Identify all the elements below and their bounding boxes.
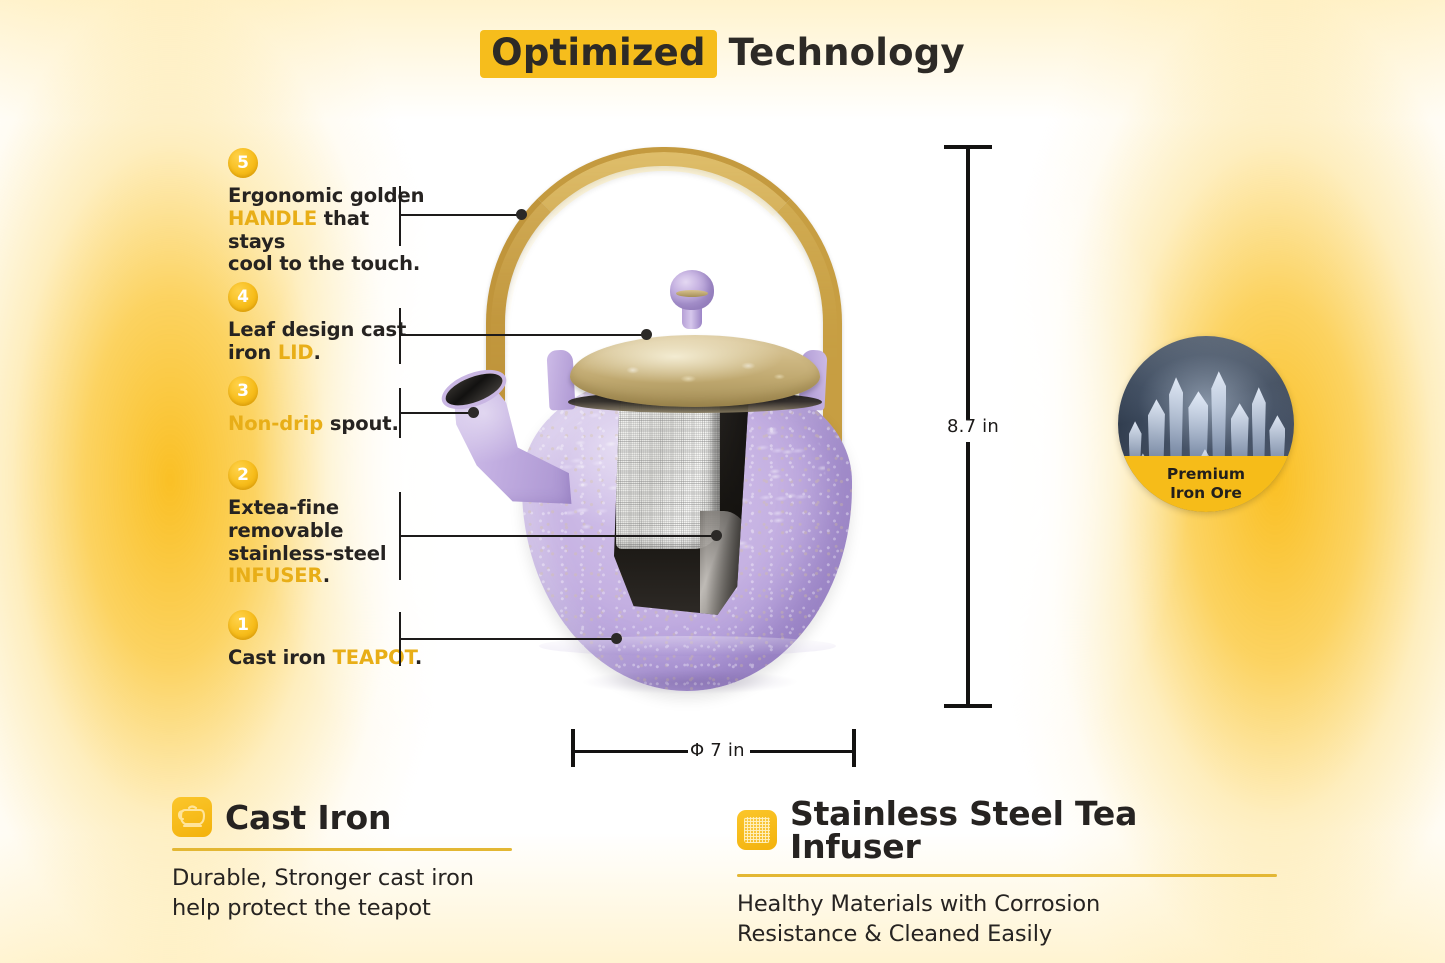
callout-1-badge: 1 bbox=[228, 610, 258, 640]
product-image-teapot bbox=[430, 145, 930, 715]
callout-5: 5 Ergonomic golden HANDLE that stays coo… bbox=[228, 148, 428, 276]
height-dimension-line-upper bbox=[966, 145, 970, 420]
callout-4: 4 Leaf design cast iron LID. bbox=[228, 282, 428, 365]
width-dimension-cap-left bbox=[571, 729, 575, 767]
callout-3-text: Non-drip spout. bbox=[228, 413, 428, 436]
premium-iron-ore-badge: Premium Iron Ore bbox=[1118, 336, 1294, 512]
lid-leaf-pattern bbox=[584, 341, 806, 395]
title-highlight: Optimized bbox=[480, 30, 716, 78]
page-title: OptimizedTechnology bbox=[0, 30, 1445, 78]
infographic-canvas: OptimizedTechnology 5 Ergonomic bbox=[0, 0, 1445, 963]
callout-2-keyword: INFUSER bbox=[228, 564, 323, 587]
callout-5-badge: 5 bbox=[228, 148, 258, 178]
feature-cast-iron-body-line2: help protect the teapot bbox=[172, 895, 431, 921]
callout-5-line3: cool to the touch. bbox=[228, 252, 420, 275]
feature-infuser-body-line1: Healthy Materials with Corrosion bbox=[737, 891, 1100, 917]
callout-4-tick bbox=[399, 308, 401, 364]
feature-infuser-body: Healthy Materials with Corrosion Resista… bbox=[737, 890, 1277, 950]
callout-2-text: Extea-fine removable stainless-steel INF… bbox=[228, 497, 428, 588]
feature-infuser-rule bbox=[737, 874, 1277, 877]
width-dimension-line-right bbox=[750, 750, 856, 753]
callout-1-text: Cast iron TEAPOT. bbox=[228, 647, 428, 670]
feature-cast-iron-body-line1: Durable, Stronger cast iron bbox=[172, 865, 474, 891]
height-dimension-cap-top bbox=[944, 145, 992, 149]
height-dimension-line-lower bbox=[966, 442, 970, 708]
callout-3: 3 Non-drip spout. bbox=[228, 376, 428, 436]
callout-4-keyword: LID bbox=[278, 341, 314, 364]
callout-3-keyword: Non-drip bbox=[228, 412, 323, 435]
callout-4-line2: iron bbox=[228, 341, 271, 364]
callout-2-line3: stainless-steel bbox=[228, 542, 386, 565]
callout-2-period: . bbox=[323, 564, 330, 587]
width-dimension-label: Φ 7 in bbox=[690, 740, 745, 761]
callout-3-dot bbox=[468, 407, 479, 418]
teapot-drop-shadow bbox=[540, 665, 840, 699]
teapot-icon-glyph bbox=[172, 797, 212, 837]
callout-1-dot bbox=[611, 633, 622, 644]
teapot-cutaway-window bbox=[614, 399, 754, 617]
feature-cast-iron-title: Cast Iron bbox=[225, 801, 391, 834]
title-rest: Technology bbox=[717, 34, 965, 72]
callout-1-line1: Cast iron bbox=[228, 646, 326, 669]
callout-4-badge: 4 bbox=[228, 282, 258, 312]
mesh-infuser-icon bbox=[737, 810, 777, 850]
callout-4-line bbox=[399, 334, 646, 336]
callout-4-dot bbox=[641, 329, 652, 340]
feature-cast-iron-rule bbox=[172, 848, 512, 851]
teapot-icon bbox=[172, 797, 212, 837]
callout-2-dot bbox=[711, 530, 722, 541]
feature-cast-iron-body: Durable, Stronger cast iron help protect… bbox=[172, 864, 512, 924]
callout-5-line bbox=[399, 214, 521, 216]
callout-5-line1: Ergonomic golden bbox=[228, 184, 424, 207]
callout-4-line1: Leaf design cast bbox=[228, 318, 406, 341]
callout-2-line2: removable bbox=[228, 519, 343, 542]
callout-1: 1 Cast iron TEAPOT. bbox=[228, 610, 428, 670]
callout-2: 2 Extea-fine removable stainless-steel I… bbox=[228, 460, 428, 588]
callout-4-text: Leaf design cast iron LID. bbox=[228, 319, 428, 365]
width-dimension-line-left bbox=[571, 750, 688, 753]
height-dimension-label: 8.7 in bbox=[947, 416, 999, 437]
callout-3-rest: spout. bbox=[330, 412, 399, 435]
feature-infuser-body-line2: Resistance & Cleaned Easily bbox=[737, 921, 1052, 947]
feature-cast-iron: Cast Iron Durable, Stronger cast iron he… bbox=[172, 797, 512, 924]
callout-5-keyword: HANDLE bbox=[228, 207, 317, 230]
callout-5-tick bbox=[399, 186, 401, 246]
height-dimension-cap-bottom bbox=[944, 704, 992, 708]
callout-3-badge: 3 bbox=[228, 376, 258, 406]
callout-1-line bbox=[399, 638, 616, 640]
ore-badge-line1: Premium bbox=[1167, 465, 1245, 484]
mesh-infuser-icon-grid bbox=[744, 817, 770, 843]
callout-1-keyword: TEAPOT bbox=[333, 646, 415, 669]
feature-cast-iron-head: Cast Iron bbox=[172, 797, 512, 837]
ore-badge-label: Premium Iron Ore bbox=[1118, 456, 1294, 512]
width-dimension-cap-right bbox=[852, 729, 856, 767]
callout-1-period: . bbox=[415, 646, 422, 669]
ore-badge-line2: Iron Ore bbox=[1170, 484, 1242, 503]
callout-5-text: Ergonomic golden HANDLE that stays cool … bbox=[228, 185, 428, 276]
callout-5-dot bbox=[516, 209, 527, 220]
callout-2-line bbox=[399, 535, 717, 537]
feature-infuser-head: Stainless Steel Tea Infuser bbox=[737, 797, 1277, 863]
lid-knob bbox=[670, 270, 714, 310]
feature-infuser: Stainless Steel Tea Infuser Healthy Mate… bbox=[737, 797, 1277, 950]
callout-3-line bbox=[399, 412, 473, 414]
callout-2-badge: 2 bbox=[228, 460, 258, 490]
callout-2-line1: Extea-fine bbox=[228, 496, 339, 519]
callout-4-period: . bbox=[313, 341, 320, 364]
feature-infuser-title: Stainless Steel Tea Infuser bbox=[790, 797, 1277, 863]
